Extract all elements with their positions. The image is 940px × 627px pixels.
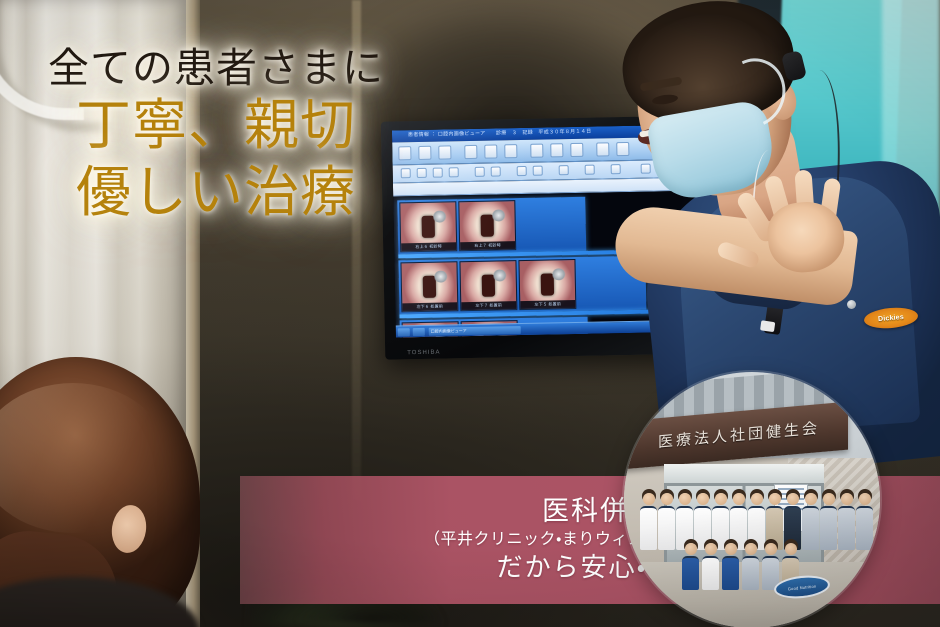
staff-head bbox=[685, 543, 697, 555]
staff-body bbox=[658, 506, 675, 550]
staff-body bbox=[722, 556, 739, 590]
taskbar-start-button[interactable] bbox=[398, 328, 410, 336]
staff-member bbox=[730, 493, 747, 550]
staff-member bbox=[722, 543, 739, 590]
staff-head bbox=[725, 543, 737, 555]
staff-head bbox=[859, 493, 871, 505]
staff-member bbox=[640, 493, 657, 550]
subtoolbar-icon-2[interactable] bbox=[417, 168, 427, 178]
toolbar-icon-grid[interactable] bbox=[596, 142, 609, 156]
staff-member bbox=[682, 543, 699, 590]
subtoolbar-icon-7[interactable] bbox=[517, 166, 527, 176]
thumbnail-image[interactable]: 左下７ 処置前 bbox=[459, 260, 517, 311]
thumbnail-image[interactable]: 左下５ 処置前 bbox=[518, 259, 576, 310]
staff-head bbox=[679, 493, 691, 505]
staff-member bbox=[856, 493, 873, 550]
staff-member bbox=[676, 493, 693, 550]
subtoolbar-icon-4[interactable] bbox=[449, 167, 459, 177]
toolbar-icon-settings[interactable] bbox=[570, 143, 583, 157]
headline-line-2: 丁寧、親切 bbox=[26, 94, 406, 159]
staff-member bbox=[742, 543, 759, 590]
staff-head bbox=[805, 493, 817, 505]
staff-body bbox=[640, 506, 657, 550]
thumbnail-image[interactable]: 右上６ 初診時 bbox=[399, 201, 457, 252]
staff-head bbox=[745, 543, 757, 555]
staff-back-row bbox=[640, 493, 876, 550]
staff-member bbox=[784, 493, 801, 550]
dentist-hand bbox=[754, 168, 862, 274]
staff-head bbox=[661, 493, 673, 505]
thumbnail-caption: 右上７ 初診時 bbox=[460, 241, 515, 250]
dentist-figure: Dickies bbox=[610, 0, 940, 430]
staff-member bbox=[658, 493, 675, 550]
poster-line bbox=[778, 488, 804, 490]
staff-head bbox=[769, 493, 781, 505]
clinic-group-photo: 医療法人社団健生会 bbox=[624, 372, 880, 627]
toolbar-icon-save[interactable] bbox=[438, 145, 451, 159]
subtoolbar-icon-9[interactable] bbox=[559, 165, 569, 175]
thumbnail-image[interactable]: 左下６ 処置前 bbox=[400, 261, 458, 312]
staff-body bbox=[702, 556, 719, 590]
staff-head bbox=[715, 493, 727, 505]
app-title-text: 患者情報 ： 口腔内画像ビューア 診療 ３ 記録 平成３０年８月１４日 bbox=[408, 128, 591, 139]
uniform-snap-button bbox=[847, 300, 856, 309]
hero-banner: TOSHIBA 患者情報 ： 口腔内画像ビューア 診療 ３ 記録 平成３０年８月… bbox=[0, 0, 940, 627]
monitor-brand-label: TOSHIBA bbox=[407, 350, 440, 357]
headline-block: 全ての患者さまに 丁寧、親切 優しい治療 bbox=[26, 46, 406, 226]
toolbar-icon-tooth[interactable] bbox=[484, 144, 497, 158]
staff-front-row bbox=[682, 543, 856, 590]
staff-member bbox=[820, 493, 837, 550]
headline-line-3: 優しい治療 bbox=[26, 161, 406, 226]
toolbar-icon-xray[interactable] bbox=[530, 144, 543, 158]
staff-member bbox=[694, 493, 711, 550]
staff-head bbox=[787, 493, 799, 505]
staff-head bbox=[697, 493, 709, 505]
staff-member bbox=[702, 543, 719, 590]
staff-member bbox=[712, 493, 729, 550]
staff-head bbox=[785, 543, 797, 555]
staff-head bbox=[765, 543, 777, 555]
toolbar-icon-chart[interactable] bbox=[504, 144, 517, 158]
staff-member bbox=[802, 493, 819, 550]
subtoolbar-icon-3[interactable] bbox=[433, 168, 443, 178]
thumbnail-caption: 右上６ 初診時 bbox=[401, 242, 456, 251]
toolbar-icon-open[interactable] bbox=[418, 146, 431, 160]
subtoolbar-icon-5[interactable] bbox=[475, 167, 485, 177]
staff-head bbox=[643, 493, 655, 505]
thumbnail-image[interactable]: 右上７ 初診時 bbox=[458, 200, 516, 251]
taskbar-quicklaunch[interactable] bbox=[413, 328, 425, 336]
taskbar-window-button[interactable]: 口腔内画像ビューア bbox=[429, 326, 521, 336]
staff-body bbox=[856, 506, 873, 550]
staff-head bbox=[823, 493, 835, 505]
staff-body bbox=[682, 556, 699, 590]
thumbnail-caption: 左下７ 処置前 bbox=[461, 301, 516, 310]
staff-member bbox=[838, 493, 855, 550]
toolbar-icon-zoom[interactable] bbox=[550, 143, 563, 157]
subtoolbar-icon-8[interactable] bbox=[533, 166, 543, 176]
patient-figure bbox=[0, 357, 210, 627]
entrance-transom bbox=[664, 464, 824, 486]
staff-head bbox=[841, 493, 853, 505]
toolbar-icon-camera[interactable] bbox=[464, 145, 477, 159]
subtoolbar-icon-6[interactable] bbox=[491, 166, 501, 176]
staff-body bbox=[742, 556, 759, 590]
thumbnail-caption: 左下６ 処置前 bbox=[402, 302, 457, 311]
staff-head bbox=[751, 493, 763, 505]
headline-line-1: 全ての患者さまに bbox=[26, 46, 406, 90]
image-row[interactable]: 右上６ 初診時 右上７ 初診時 bbox=[397, 197, 586, 255]
staff-head bbox=[705, 543, 717, 555]
staff-member bbox=[748, 493, 765, 550]
staff-head bbox=[733, 493, 745, 505]
staff-member bbox=[766, 493, 783, 550]
thumbnail-caption: 左下５ 処置前 bbox=[520, 300, 575, 309]
subtoolbar-icon-10[interactable] bbox=[585, 165, 595, 175]
